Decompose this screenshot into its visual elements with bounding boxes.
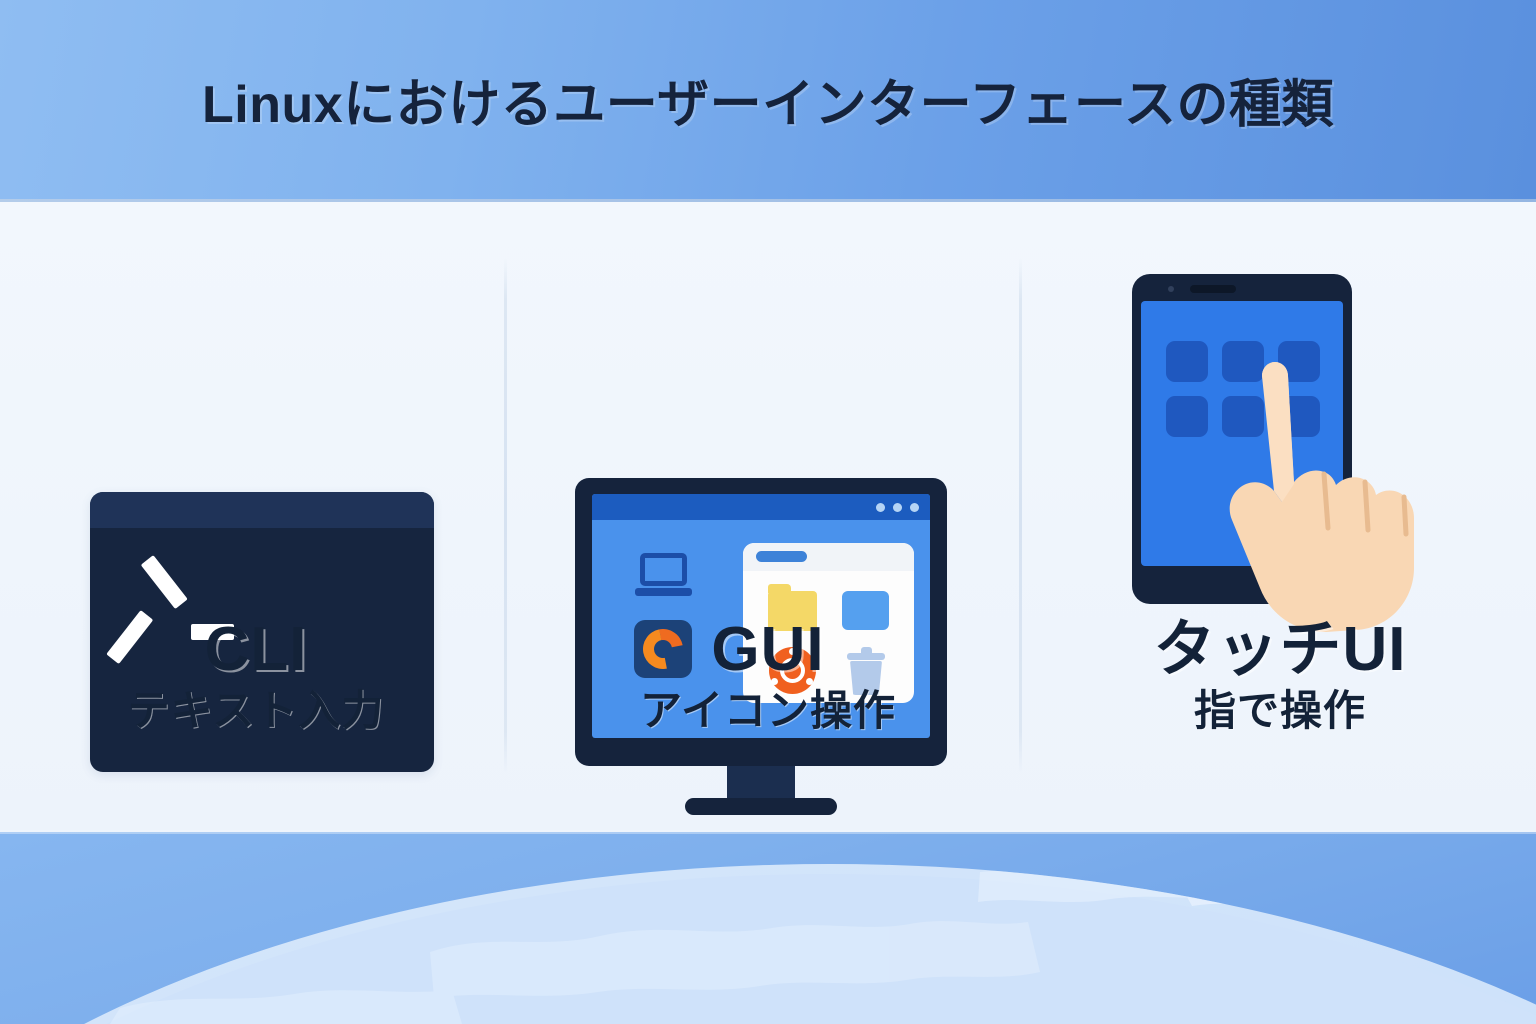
touch-subtitle: 指で操作 xyxy=(1024,688,1536,734)
file-window-titlebar xyxy=(743,543,914,571)
gui-title: GUI xyxy=(512,617,1024,682)
column-cli: CLI テキスト入力 xyxy=(0,202,512,830)
window-dot-1 xyxy=(876,503,885,512)
tablet-speaker-icon xyxy=(1190,285,1236,293)
page-title: Linuxにおけるユーザーインターフェースの種類 xyxy=(202,62,1334,137)
touch-title: タッチUI xyxy=(1024,617,1536,682)
cli-title: CLI xyxy=(0,617,512,682)
laptop-icon xyxy=(635,553,692,597)
cli-label-block: CLI テキスト入力 xyxy=(0,617,512,734)
file-window-pill xyxy=(756,551,807,562)
gui-subtitle: アイコン操作 xyxy=(512,688,1024,734)
column-gui: GUI アイコン操作 xyxy=(512,202,1024,830)
window-dot-3 xyxy=(910,503,919,512)
tablet-icon xyxy=(1110,262,1470,642)
window-dot-2 xyxy=(893,503,902,512)
app-tile-1 xyxy=(1166,341,1208,382)
prompt-chevron-icon xyxy=(131,560,187,616)
desktop-titlebar xyxy=(592,494,930,520)
tablet-camera-icon xyxy=(1168,286,1174,292)
touch-label-block: タッチUI 指で操作 xyxy=(1024,617,1536,734)
column-touch: タッチUI 指で操作 xyxy=(1024,202,1536,830)
terminal-titlebar xyxy=(90,492,434,528)
hand-pointing-icon xyxy=(1218,332,1470,632)
cli-subtitle: テキスト入力 xyxy=(0,688,512,734)
window-control-dots xyxy=(876,503,919,512)
columns-container: CLI テキスト入力 xyxy=(0,202,1536,830)
main-content-area: CLI テキスト入力 xyxy=(0,202,1536,830)
header-band: Linuxにおけるユーザーインターフェースの種類 xyxy=(0,0,1536,199)
app-tile-4 xyxy=(1166,396,1208,437)
monitor-base xyxy=(685,798,837,815)
footer-band xyxy=(0,832,1536,1024)
gui-label-block: GUI アイコン操作 xyxy=(512,617,1024,734)
globe-arc-graphic xyxy=(0,832,1536,1024)
monitor-neck xyxy=(727,766,795,800)
infographic-page: Linuxにおけるユーザーインターフェースの種類 CLI xyxy=(0,0,1536,1024)
